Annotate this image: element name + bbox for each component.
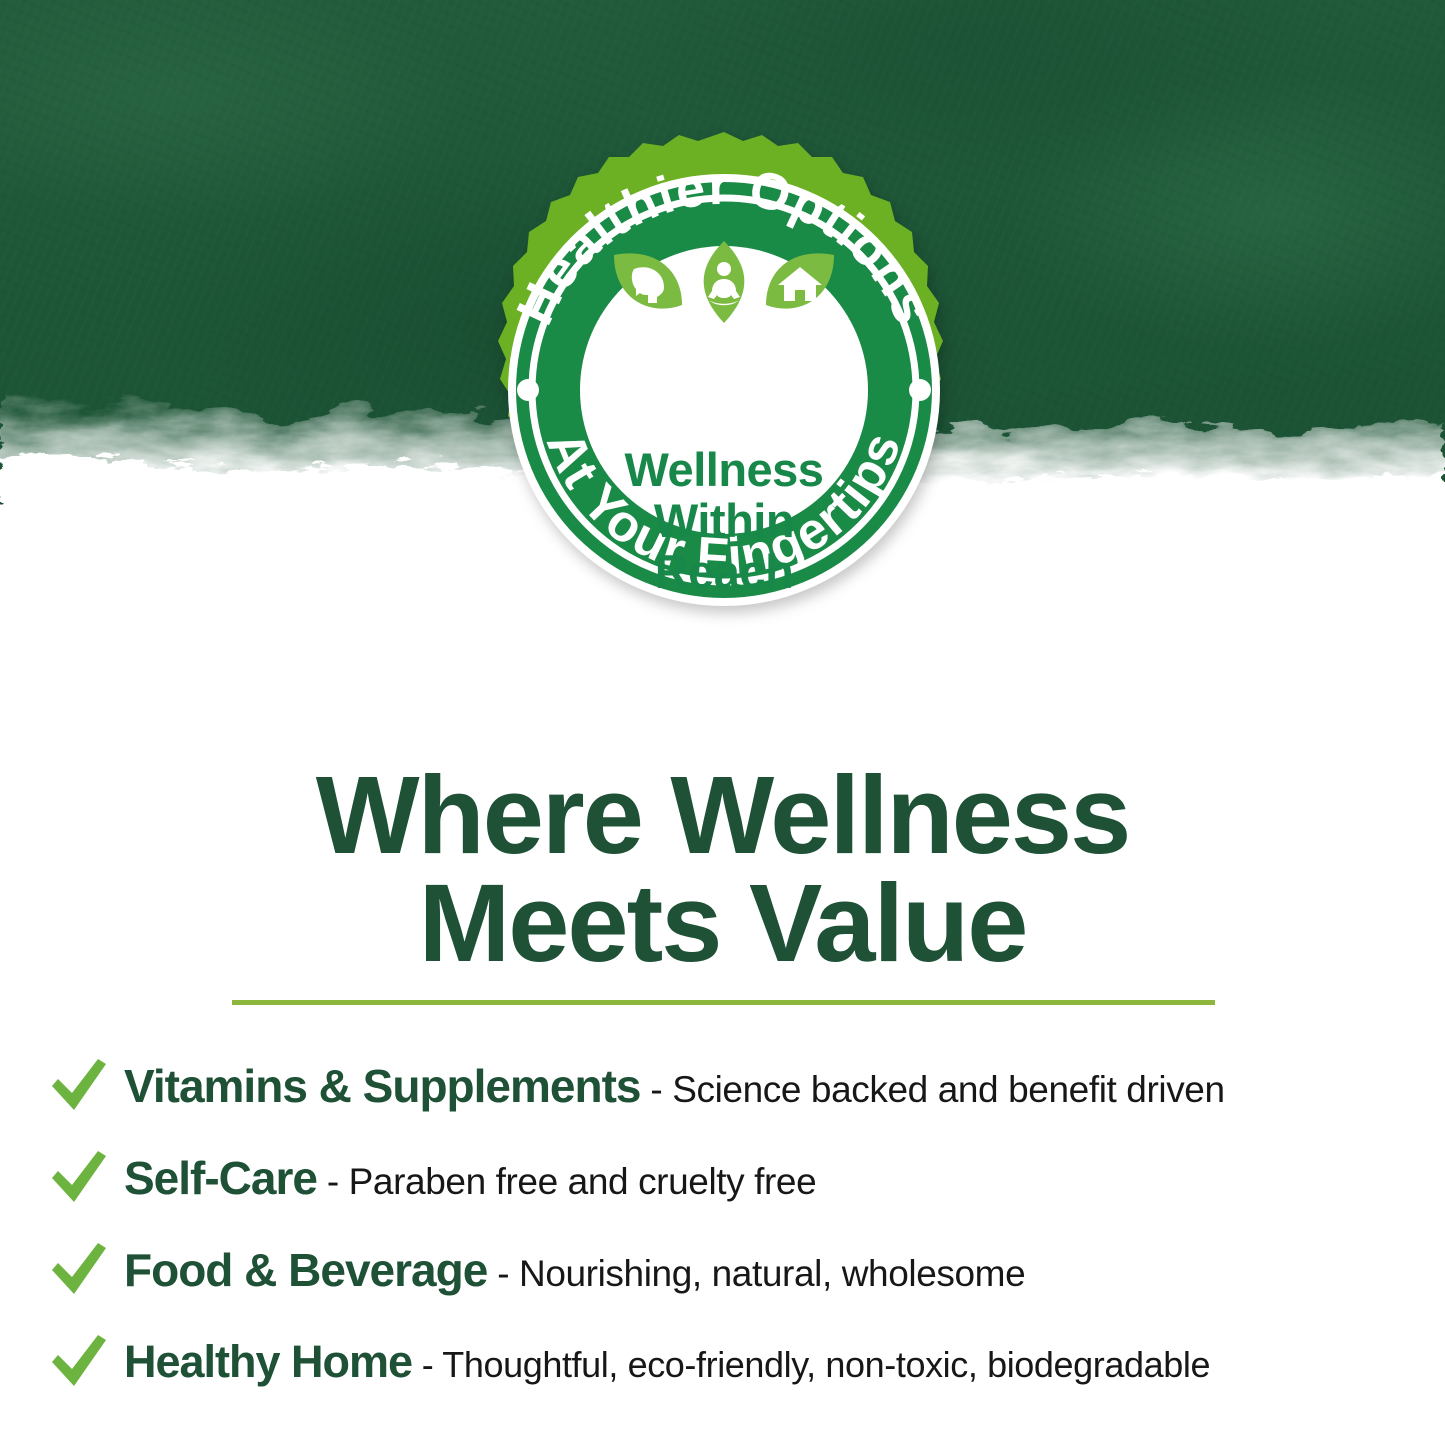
list-item-separator: - — [317, 1161, 349, 1202]
list-item-text: Food & Beverage - Nourishing, natural, w… — [124, 1243, 1428, 1297]
list-item-description: Science backed and benefit driven — [672, 1069, 1224, 1110]
list-item-description: Paraben free and cruelty free — [349, 1161, 817, 1202]
list-item: Food & Beverage - Nourishing, natural, w… — [48, 1224, 1428, 1316]
check-icon — [48, 1333, 124, 1391]
list-item: Healthy Home - Thoughtful, eco-friendly,… — [48, 1316, 1428, 1408]
check-icon — [48, 1241, 124, 1299]
list-item-text: Self-Care - Paraben free and cruelty fre… — [124, 1151, 1428, 1205]
list-item-separator: - — [487, 1253, 519, 1294]
list-item-description: Thoughtful, eco-friendly, non-toxic, bio… — [442, 1344, 1210, 1385]
badge-center-line-3: Reach — [462, 546, 986, 597]
list-item-category: Healthy Home — [124, 1336, 412, 1387]
page-title-line-1: Where Wellness — [0, 762, 1445, 870]
badge-dot-left — [517, 379, 539, 401]
badge-center-line-2: Within — [462, 495, 986, 546]
list-item-text: Healthy Home - Thoughtful, eco-friendly,… — [124, 1336, 1428, 1388]
list-item-description: Nourishing, natural, wholesome — [519, 1253, 1025, 1294]
list-item: Vitamins & Supplements - Science backed … — [48, 1040, 1428, 1132]
list-item-text: Vitamins & Supplements - Science backed … — [124, 1059, 1428, 1113]
wellness-badge: Healthier Options At Your Fingertips — [462, 128, 986, 652]
feature-list: Vitamins & Supplements - Science backed … — [48, 1040, 1428, 1408]
list-item-category: Food & Beverage — [124, 1244, 487, 1296]
badge-dot-right — [909, 379, 931, 401]
check-icon — [48, 1149, 124, 1207]
promo-page: Healthier Options At Your Fingertips — [0, 0, 1445, 1445]
list-item-category: Self-Care — [124, 1152, 317, 1204]
list-item-category: Vitamins & Supplements — [124, 1060, 641, 1112]
list-item: Self-Care - Paraben free and cruelty fre… — [48, 1132, 1428, 1224]
badge-center-text: Wellness Within Reach — [462, 444, 986, 597]
title-divider — [232, 1000, 1215, 1005]
badge-center-line-1: Wellness — [462, 444, 986, 495]
page-title: Where Wellness Meets Value — [0, 762, 1445, 978]
list-item-separator: - — [412, 1344, 442, 1385]
check-icon — [48, 1057, 124, 1115]
page-title-line-2: Meets Value — [0, 870, 1445, 978]
list-item-separator: - — [641, 1069, 673, 1110]
